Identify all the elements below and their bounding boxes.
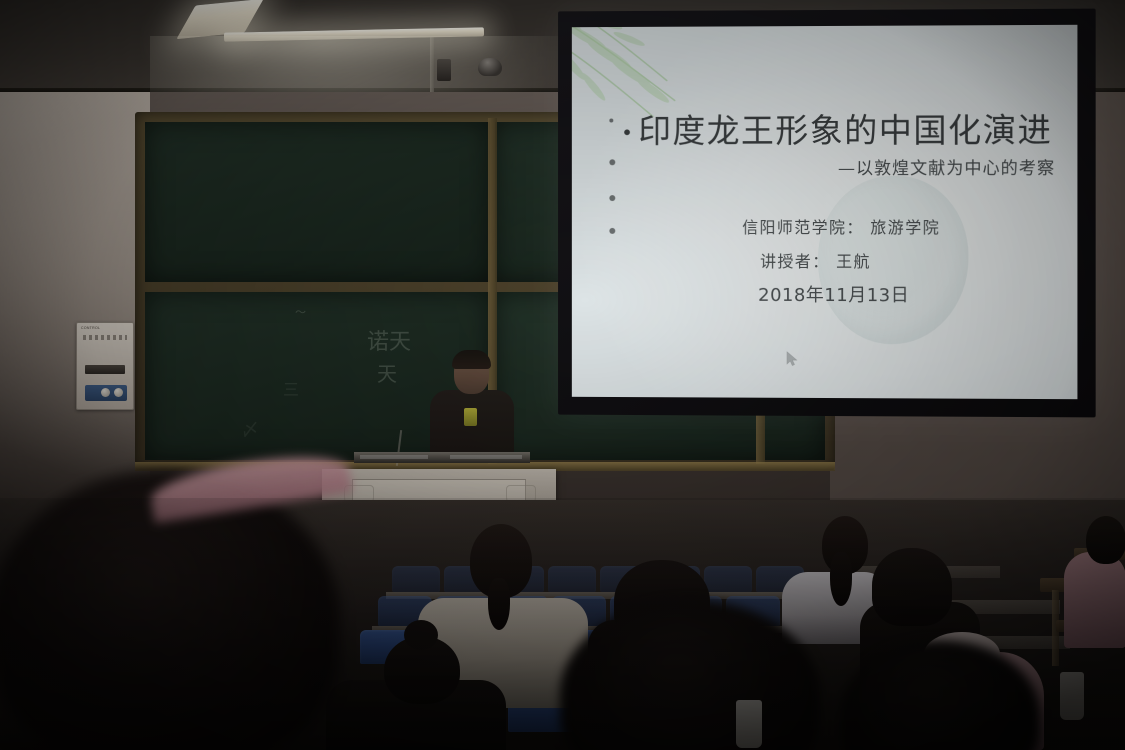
chalk-mark: 天 <box>377 358 397 387</box>
projection-screen: •印度龙王形象的中国化演进 —以敦煌文献为中心的考察 信阳师范学院： 旅游学院 … <box>558 9 1096 418</box>
audience-head <box>872 548 952 626</box>
presenter <box>430 352 514 458</box>
wall-lit-area <box>0 92 150 522</box>
ceiling-conduit <box>430 30 434 100</box>
blackboard-panel <box>145 122 490 282</box>
paper-cup <box>1060 672 1084 720</box>
slide-content: •印度龙王形象的中国化演进 —以敦煌文献为中心的考察 信阳师范学院： 旅游学院 … <box>572 25 1078 399</box>
slide-title-bullet: • <box>621 120 634 144</box>
control-panel-label: CONTROL <box>81 326 100 330</box>
camera-mount <box>437 59 451 81</box>
slide-organization: 信阳师范学院： 旅游学院 <box>742 214 940 238</box>
lectern-desktop-edge <box>450 455 522 459</box>
audience-body <box>1064 552 1125 648</box>
dome-security-camera-icon <box>478 58 502 76</box>
control-panel-display <box>85 365 125 374</box>
presenter-hair <box>452 350 491 369</box>
slide-subtitle: —以敦煌文献为中心的考察 <box>838 154 1055 179</box>
control-panel-indicators <box>83 335 127 340</box>
seat[interactable] <box>704 566 752 592</box>
slide-speaker: 讲授者： 王航 <box>760 248 871 272</box>
presenter-badge <box>464 408 477 426</box>
lectern-desktop <box>354 452 530 463</box>
wall-control-panel[interactable]: CONTROL <box>76 322 134 410</box>
control-knob[interactable] <box>114 388 123 397</box>
ponytail <box>488 578 510 630</box>
chalk-mark: 〆 <box>241 416 259 442</box>
slide-title-text: 印度龙王形象的中国化演进 <box>638 110 1052 150</box>
lectern-desktop-edge <box>360 455 428 459</box>
mouse-pointer-icon <box>786 351 799 367</box>
paper-cup <box>736 700 762 748</box>
control-knob[interactable] <box>101 388 110 397</box>
hair-bun <box>404 620 438 650</box>
slide-date: 2018年11月13日 <box>758 281 909 307</box>
projection-screen-surface: •印度龙王形象的中国化演进 —以敦煌文献为中心的考察 信阳师范学院： 旅游学院 … <box>572 25 1078 399</box>
chalk-mark: 诺天 <box>367 324 411 356</box>
ponytail <box>830 552 852 606</box>
chalk-mark: 三 <box>283 376 299 400</box>
slide-title: •印度龙王形象的中国化演进 <box>621 103 1061 152</box>
seat[interactable] <box>392 566 440 592</box>
control-panel-buttons[interactable] <box>85 385 127 401</box>
audience-head <box>1086 516 1125 564</box>
seat[interactable] <box>548 566 596 592</box>
chalk-mark: 〜 <box>295 304 307 321</box>
lecture-hall-scene: 〜 诺天 天 三 〆 CONTROL <box>0 0 1125 750</box>
